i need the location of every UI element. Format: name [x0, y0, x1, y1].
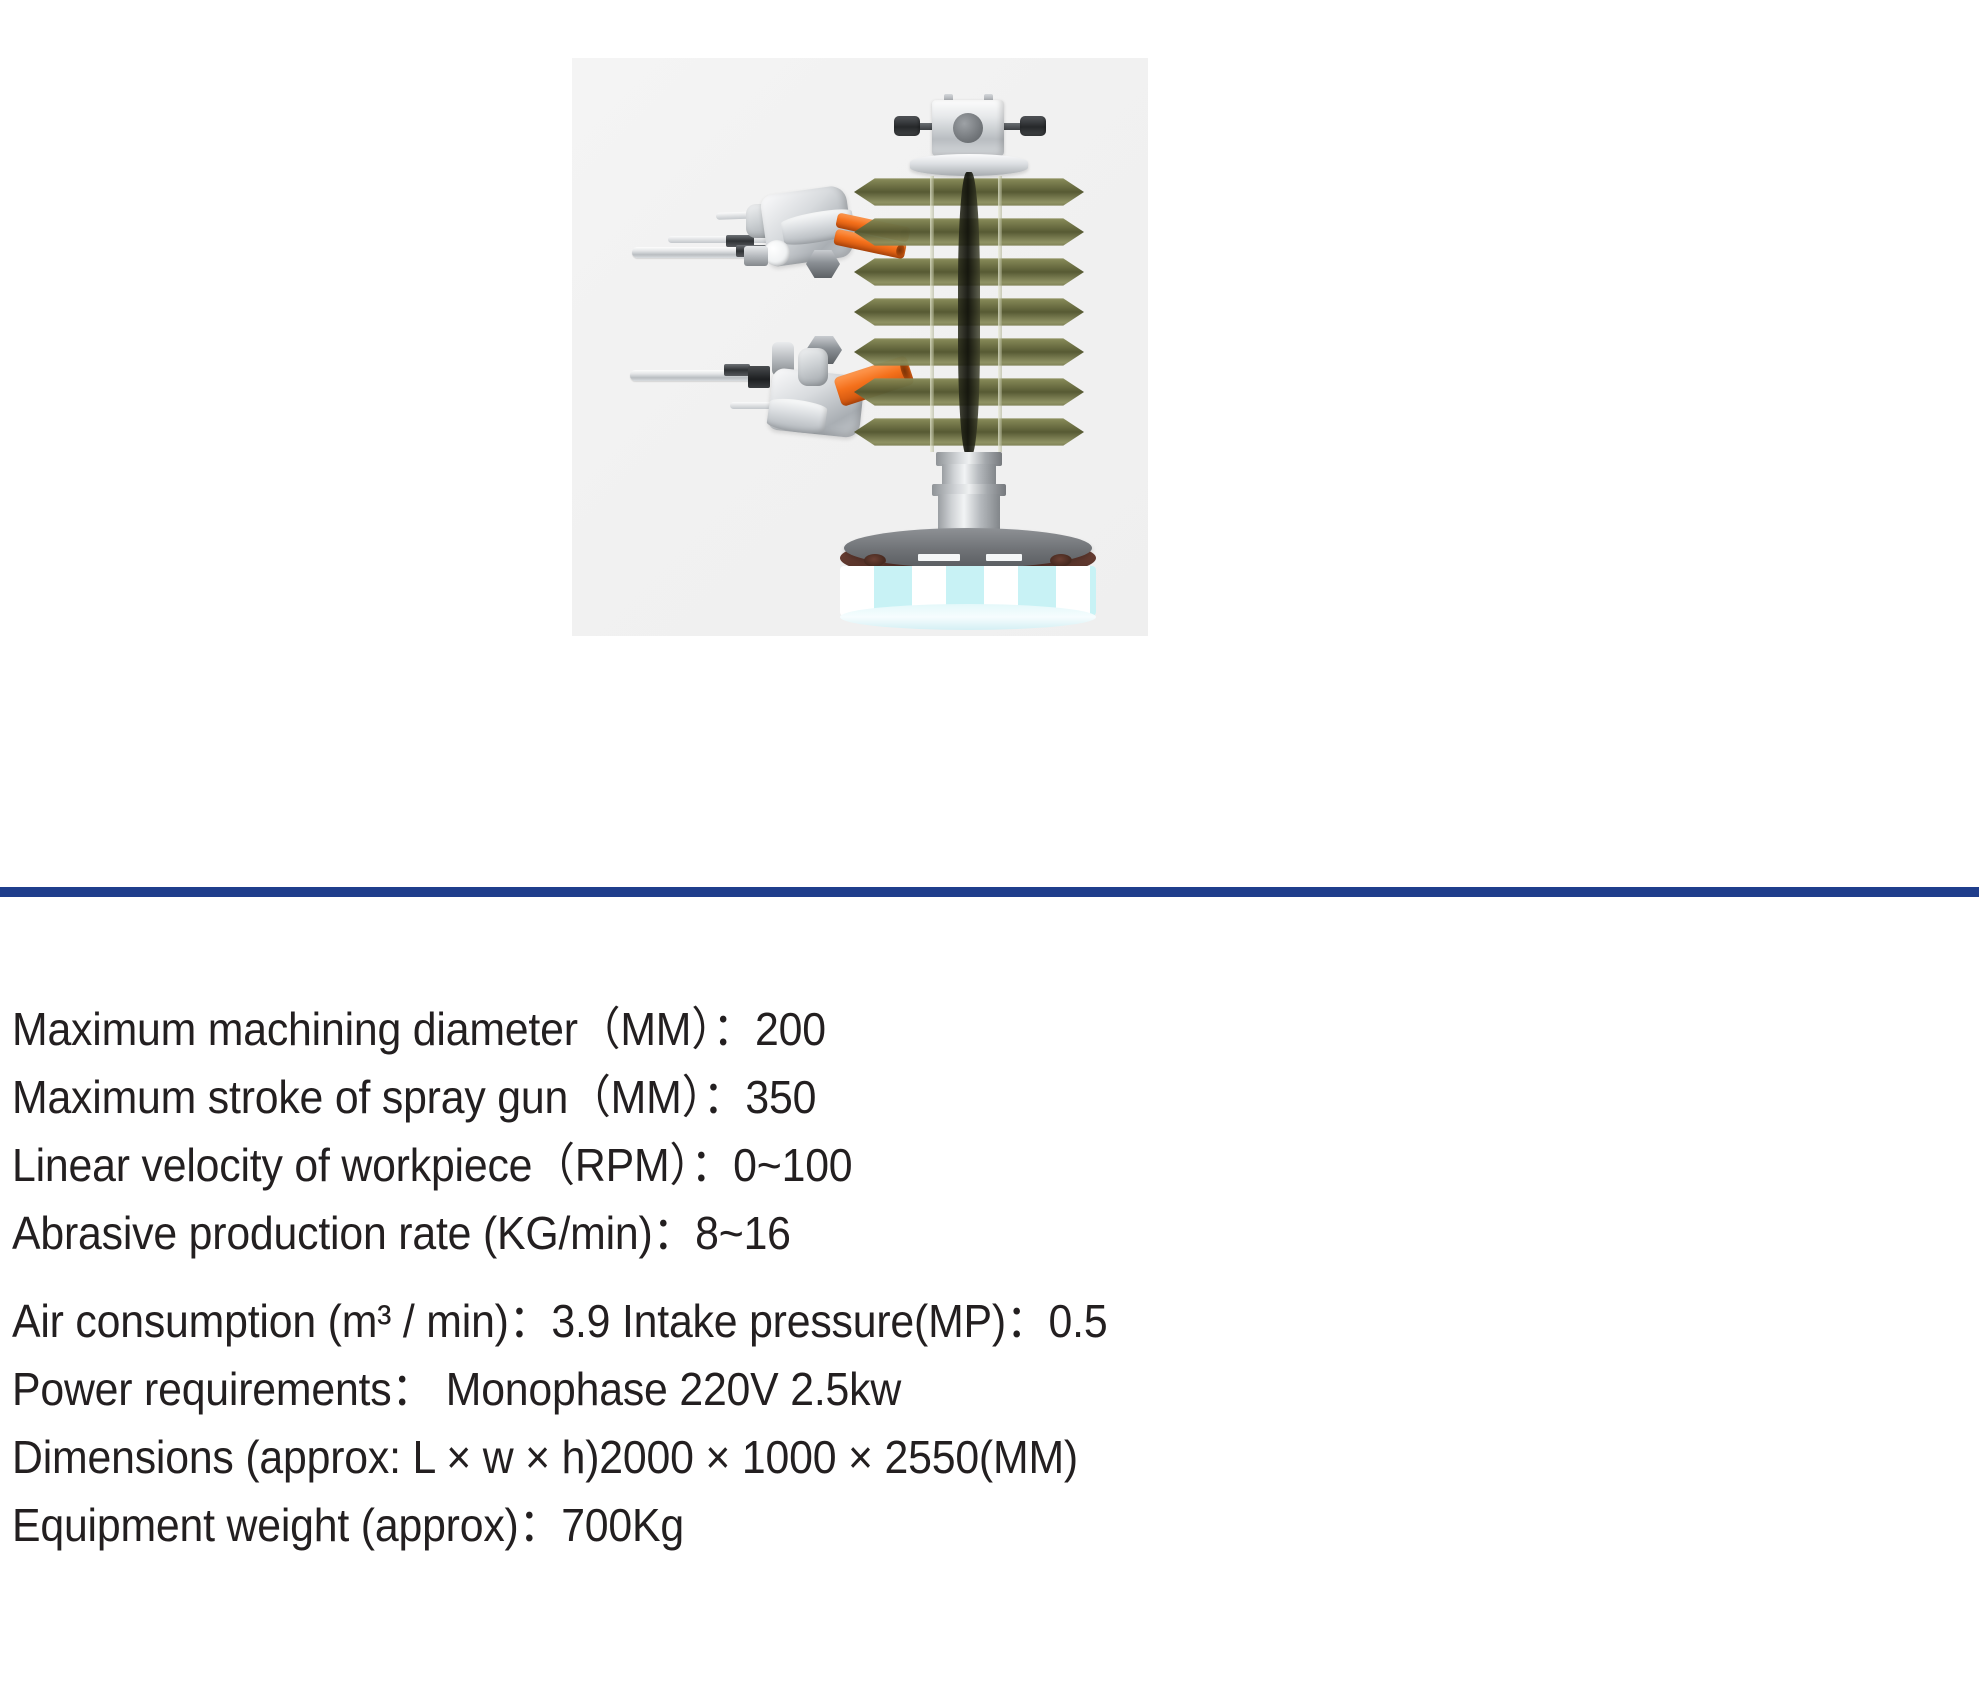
- clamp-knob-left[interactable]: [894, 116, 920, 136]
- disc-column-core: [958, 172, 980, 456]
- divider-bar: [0, 887, 1979, 897]
- spec-line-equipment-weight: Equipment weight (approx)：700Kg: [12, 1491, 1779, 1559]
- shaft-highlight-right: [998, 176, 1002, 452]
- base-drum-bottom: [840, 604, 1096, 630]
- rod-collar-lower-a: [724, 364, 750, 376]
- sensor-block-lower: [748, 366, 770, 388]
- shaft-upper: [942, 464, 996, 486]
- product-image-panel: [572, 58, 1148, 636]
- spec-line-power-requirements: Power requirements： Monophase 220V 2.5kw: [12, 1355, 1779, 1423]
- spec-line-air-consumption: Air consumption (m³ / min)：3.9 Intake pr…: [12, 1287, 1779, 1355]
- spec-line-max-machining-diameter: Maximum machining diameter（MM）：200: [12, 995, 1779, 1063]
- clamp-head: [932, 100, 1004, 156]
- specification-list: Maximum machining diameter（MM）：200Maximu…: [12, 995, 1912, 1559]
- product-illustration: [572, 58, 1148, 636]
- cap-nut-upper: [744, 246, 768, 266]
- section-divider: [0, 887, 1979, 897]
- plate-slot-right: [986, 554, 1022, 561]
- plate-slot-left: [918, 554, 960, 561]
- spec-line-linear-velocity: Linear velocity of workpiece（RPM）：0~100: [12, 1131, 1779, 1199]
- clamp-knob-right[interactable]: [1020, 116, 1046, 136]
- spec-line-dimensions: Dimensions (approx: L × w × h)2000 × 100…: [12, 1423, 1779, 1491]
- shaft-highlight-left: [930, 176, 934, 452]
- spec-line-max-stroke-spray-gun: Maximum stroke of spray gun（MM）：350: [12, 1063, 1779, 1131]
- gun-valve-lower: [798, 348, 828, 386]
- disc-column-assembly: [838, 76, 1118, 616]
- spec-line-abrasive-production-rate: Abrasive production rate (KG/min)：8~16: [12, 1199, 1779, 1267]
